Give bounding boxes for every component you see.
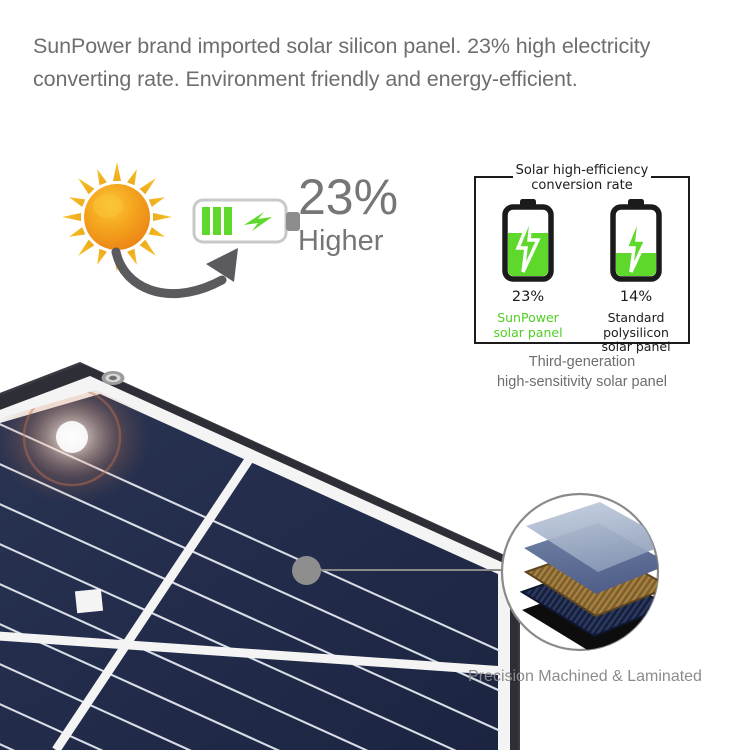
solar-panel-photo — [0, 350, 520, 750]
magnifier-layers-diagram — [500, 492, 660, 652]
card-title-line-2: conversion rate — [528, 178, 636, 193]
comparison-percent-standard: 14% — [588, 289, 684, 305]
comparison-label-standard-line-1: Standard — [608, 310, 665, 325]
comparison-label-standard: Standard polysilicon solar panel — [588, 311, 684, 355]
conversion-rate-card-title: Solar high-efficiency conversion rate — [474, 163, 690, 193]
caption-line-1: Third-generation — [529, 354, 635, 370]
curved-arrow-icon — [110, 242, 285, 320]
callout-leader-line — [316, 569, 506, 571]
comparison-label-sunpower: SunPower solar panel — [480, 311, 576, 340]
battery-vertical-charging-icon — [588, 196, 684, 282]
comparison-percent-sunpower: 23% — [480, 289, 576, 305]
comparison-label-sunpower-line-2: solar panel — [493, 325, 562, 340]
comparison-column-sunpower: 23% SunPower solar panel — [480, 196, 576, 355]
comparison-label-standard-line-2: polysilicon — [603, 325, 669, 340]
percent-higher-block: 23% Higher — [298, 172, 438, 258]
comparison-column-standard: 14% Standard polysilicon solar panel — [588, 196, 684, 355]
card-title-line-1: Solar high-efficiency — [513, 163, 652, 178]
battery-vertical-charging-icon — [480, 196, 576, 282]
precision-laminated-caption: Precision Machined & Laminated — [430, 668, 740, 686]
callout-dot — [292, 556, 321, 585]
conversion-rate-columns: 23% SunPower solar panel 14% Standa — [474, 196, 690, 355]
efficiency-promo-block: 23% Higher — [40, 150, 440, 320]
caption-line-2: high-sensitivity solar panel — [497, 374, 667, 390]
grommet-eyelet-icon — [102, 371, 125, 385]
percent-sublabel: Higher — [298, 224, 438, 258]
percent-value: 23% — [298, 172, 438, 222]
comparison-label-sunpower-line-1: SunPower — [497, 310, 559, 325]
page-headline: SunPower brand imported solar silicon pa… — [33, 30, 723, 96]
